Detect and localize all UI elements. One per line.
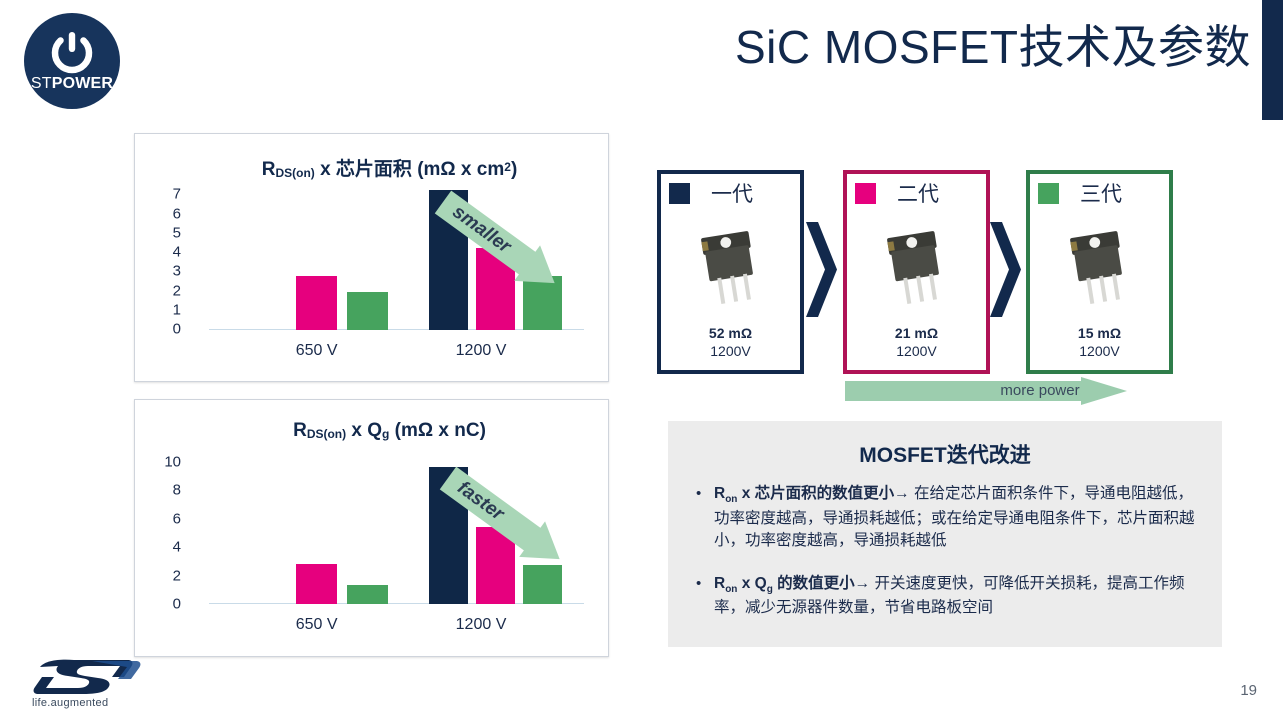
chart2-ytick: 8 [151, 482, 181, 499]
chart1-bar-650v-gen2 [296, 276, 337, 330]
chart1-ytick: 2 [151, 282, 181, 299]
gen1-resistance: 52 mΩ [661, 325, 800, 343]
gen2-resistance: 21 mΩ [847, 325, 986, 343]
chart1-xtick-650v: 650 V [271, 342, 361, 360]
stpower-power: POWER [52, 75, 113, 92]
gen2-footer: 21 mΩ 1200V [847, 325, 986, 360]
to-247-transistor-icon [1059, 226, 1141, 312]
stpower-logo: STPOWER [24, 13, 120, 109]
chart-panel-rds-qg: RDS(on) x Qg (mΩ x nC) 10 8 6 4 2 0 [134, 399, 609, 657]
gen3-footer: 15 mΩ 1200V [1030, 325, 1169, 360]
chart1-title: RDS(on) x 芯片面积 (mΩ x cm2) [135, 154, 608, 181]
chart1-ytick: 5 [151, 224, 181, 241]
page-number: 19 [1240, 682, 1257, 699]
chart-panel-rds-die-area: RDS(on) x 芯片面积 (mΩ x cm2) 7 6 5 4 3 2 1 … [134, 133, 609, 382]
gen3-label: 三代 [1080, 178, 1122, 208]
chart1-xtick-1200v: 1200 V [428, 342, 535, 360]
chart1-y-axis: 7 6 5 4 3 2 1 0 [181, 190, 207, 330]
gen1-color-swatch [669, 183, 690, 204]
page-title: SiC MOSFET技术及参数 [735, 22, 1251, 73]
chart2-ytick: 4 [151, 539, 181, 556]
gen2-label: 二代 [897, 178, 939, 208]
chart2-xtick-650v: 650 V [271, 616, 361, 634]
chart2-bar-650v-gen3 [347, 585, 388, 604]
chart1-ytick: 3 [151, 263, 181, 280]
gen3-voltage: 1200V [1030, 343, 1169, 361]
chart2-ytick: 2 [151, 567, 181, 584]
chart2-bar-650v-gen2 [296, 564, 337, 604]
list-item: • Ron x Qg 的数值更小→ 开关速度更快，可降低开关损耗，提高工作频率，… [688, 573, 1204, 620]
top-right-accent-bar [1262, 0, 1283, 120]
chevron-right-icon-1 [804, 222, 838, 317]
chart1-bar-650v-gen3 [347, 292, 388, 330]
bullet-marker: • [696, 573, 701, 595]
gen3-header: 三代 [1038, 180, 1163, 206]
more-power-arrow: more power [845, 377, 1127, 405]
chart2-title: RDS(on) x Qg (mΩ x nC) [135, 420, 608, 442]
gen3-color-swatch [1038, 183, 1059, 204]
info-bullet-list: • Ron x 芯片面积的数值更小→ 在给定芯片面积条件下，导通电阻越低，功率密… [688, 483, 1204, 640]
generation-box-gen2[interactable]: 二代 21 mΩ 1200V [843, 170, 990, 374]
more-power-label: more power [985, 381, 1095, 401]
to-247-transistor-icon [690, 226, 772, 312]
chart1-ytick: 0 [151, 321, 181, 338]
chart2-ytick: 0 [151, 596, 181, 613]
chart2-y-axis: 10 8 6 4 2 0 [181, 456, 207, 604]
bullet1-bold: Ron x 芯片面积的数值更小→ [714, 485, 910, 502]
bullet-marker: • [696, 483, 701, 505]
chart2-ytick: 6 [151, 510, 181, 527]
gen1-footer: 52 mΩ 1200V [661, 325, 800, 360]
slide-root: STPOWER SiC MOSFET技术及参数 RDS(on) x 芯片面积 (… [0, 0, 1283, 721]
gen2-header: 二代 [855, 180, 980, 206]
gen1-header: 一代 [669, 180, 794, 206]
list-item: • Ron x 芯片面积的数值更小→ 在给定芯片面积条件下，导通电阻越低，功率密… [688, 483, 1204, 553]
to-247-transistor-icon [876, 226, 958, 312]
power-symbol-icon [48, 30, 96, 78]
stpower-st: ST [31, 75, 52, 92]
bullet2-bold: Ron x Qg 的数值更小→ [714, 575, 870, 592]
generation-box-gen3[interactable]: 三代 15 mΩ 1200V [1026, 170, 1173, 374]
chart2-xtick-1200v: 1200 V [428, 616, 535, 634]
gen1-voltage: 1200V [661, 343, 800, 361]
info-panel: MOSFET迭代改进 • Ron x 芯片面积的数值更小→ 在给定芯片面积条件下… [668, 421, 1222, 647]
chart2-ytick: 10 [151, 453, 181, 470]
chart1-ytick: 1 [151, 302, 181, 319]
generation-box-gen1[interactable]: 一代 52 mΩ 1200V [657, 170, 804, 374]
chart2-group-650v [288, 456, 413, 604]
stpower-logo-text: STPOWER [24, 75, 120, 93]
st-tagline: life.augmented [32, 697, 108, 709]
chart1-ytick: 4 [151, 244, 181, 261]
chevron-right-icon-2 [988, 222, 1022, 317]
chart1-ytick: 7 [151, 186, 181, 203]
chart1-group-650v [288, 190, 413, 330]
gen2-color-swatch [855, 183, 876, 204]
gen1-label: 一代 [711, 178, 753, 208]
gen2-voltage: 1200V [847, 343, 986, 361]
st-logo: life.augmented [32, 657, 142, 709]
st-brand-icon [32, 657, 142, 695]
gen3-resistance: 15 mΩ [1030, 325, 1169, 343]
info-panel-title: MOSFET迭代改进 [668, 439, 1222, 469]
chart1-ytick: 6 [151, 205, 181, 222]
